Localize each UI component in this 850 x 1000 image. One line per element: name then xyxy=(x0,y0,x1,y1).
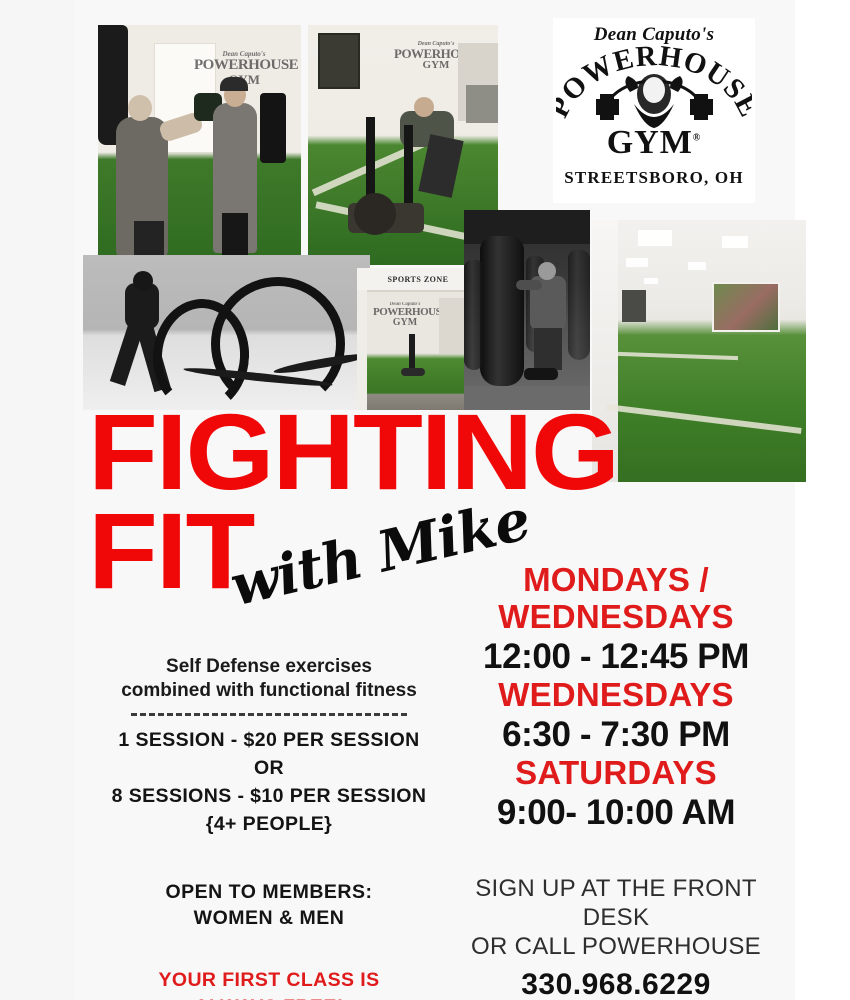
photo-heavy-bag xyxy=(464,210,590,410)
open-line-2: WOMEN & MEN xyxy=(83,905,455,931)
pricing-block: 1 SESSION - $20 PER SESSION OR 8 SESSION… xyxy=(83,726,455,839)
logo-script-text: Dean Caputo's xyxy=(594,24,715,46)
photo-sports-zone-entrance: SPORTS ZONE Dean Caputo's POWERHOUSE GYM xyxy=(357,268,479,410)
price-group-note: {4+ PEOPLE} xyxy=(83,810,455,838)
phone-number[interactable]: 330.968.6229 xyxy=(440,968,792,1000)
price-or: OR xyxy=(83,754,455,782)
logo-city-text: STREETSBORO, OH xyxy=(564,168,744,188)
registered-icon: ® xyxy=(693,133,701,144)
photo-mitt-training: Dean Caputo's POWERHOUSE GYM xyxy=(98,25,301,265)
schedule-entry-3: SATURDAYS 9:00- 10:00 AM xyxy=(440,755,792,833)
open-to-members: OPEN TO MEMBERS: WOMEN & MEN xyxy=(83,879,455,932)
powerhouse-gym-logo: Dean Caputo's POWERHOUSE xyxy=(553,18,755,203)
schedule-entry-1: MONDAYS / WEDNESDAYS 12:00 - 12:45 PM xyxy=(440,562,792,677)
schedule-column: MONDAYS / WEDNESDAYS 12:00 - 12:45 PM WE… xyxy=(440,562,792,1000)
schedule-time-1: 12:00 - 12:45 PM xyxy=(440,636,792,677)
price-single-session: 1 SESSION - $20 PER SESSION xyxy=(83,726,455,754)
schedule-days-1b: WEDNESDAYS xyxy=(440,599,792,636)
wall-logo-text-3: Dean Caputo's POWERHOUSE GYM xyxy=(373,302,437,328)
sports-zone-sign: SPORTS ZONE xyxy=(357,268,479,290)
free-line-2: ALWAYS FREE! xyxy=(83,994,455,1000)
open-line-1: OPEN TO MEMBERS: xyxy=(83,879,455,905)
details-column: Self Defense exercises combined with fun… xyxy=(83,655,455,1000)
right-margin xyxy=(795,0,850,1000)
logo-gym-text: GYM® xyxy=(607,126,702,160)
tagline-line-1: Self Defense exercises xyxy=(83,655,455,679)
price-eight-sessions: 8 SESSIONS - $10 PER SESSION xyxy=(83,782,455,810)
photo-battle-ropes xyxy=(83,255,370,410)
schedule-days-3: SATURDAYS xyxy=(440,755,792,792)
schedule-entry-2: WEDNESDAYS 6:30 - 7:30 PM xyxy=(440,677,792,755)
flyer-canvas: Dean Caputo's POWERHOUSE GYM Dean Caputo… xyxy=(0,0,850,1000)
schedule-time-2: 6:30 - 7:30 PM xyxy=(440,714,792,755)
logo-arc: POWERHOUSE xyxy=(556,44,752,130)
tagline-line-2: combined with functional fitness xyxy=(83,679,455,703)
signup-line-2: OR CALL POWERHOUSE xyxy=(440,932,792,961)
dashed-divider xyxy=(131,713,407,716)
headline-line-1: FIGHTING xyxy=(88,408,639,497)
signup-instructions: SIGN UP AT THE FRONT DESK OR CALL POWERH… xyxy=(440,874,792,962)
free-line-1: YOUR FIRST CLASS IS xyxy=(83,967,455,993)
schedule-time-3: 9:00- 10:00 AM xyxy=(440,792,792,833)
signup-line-1: SIGN UP AT THE FRONT DESK xyxy=(440,874,792,933)
first-class-free: YOUR FIRST CLASS IS ALWAYS FREE! xyxy=(83,967,455,1000)
tagline: Self Defense exercises combined with fun… xyxy=(83,655,455,704)
schedule-days-1a: MONDAYS / xyxy=(440,562,792,599)
schedule-days-2: WEDNESDAYS xyxy=(440,677,792,714)
left-margin xyxy=(0,0,75,1000)
